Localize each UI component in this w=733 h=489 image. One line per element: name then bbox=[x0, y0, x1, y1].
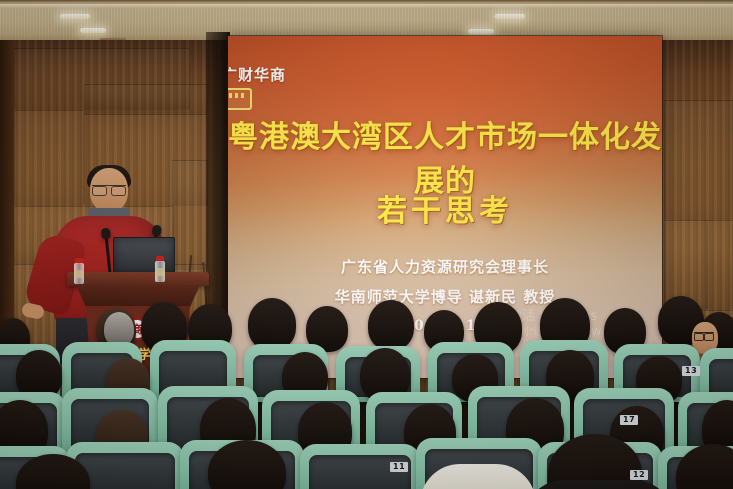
slide-title-line-2: 若干思考 bbox=[228, 186, 662, 230]
slide-brand-logo: 广财华商 bbox=[228, 64, 286, 85]
laptop-screen bbox=[113, 237, 175, 275]
audience-head bbox=[104, 312, 134, 346]
audience-seating: 13 17 11 12 bbox=[0, 314, 733, 489]
seat-number: 11 bbox=[390, 462, 408, 472]
seat-number: 17 bbox=[620, 415, 638, 425]
seat-number: 13 bbox=[682, 366, 700, 376]
slide-badge-icon bbox=[228, 88, 252, 110]
lecture-hall-photo: 广财华商 粤港澳大湾区人才市场一体化发展的 若干思考 广东省人力资源研究会理事长… bbox=[0, 0, 733, 489]
slide-subtitle-line-2: 华南师范大学博导 谌新民 教授 bbox=[228, 286, 662, 307]
water-bottle bbox=[155, 256, 165, 282]
podium-top bbox=[67, 272, 209, 286]
bottle-label bbox=[155, 268, 165, 276]
slide-subtitle-line-1: 广东省人力资源研究会理事长 bbox=[228, 256, 662, 277]
seat-number: 12 bbox=[630, 470, 648, 480]
audience-head bbox=[248, 298, 296, 350]
podium-slope bbox=[76, 285, 200, 307]
glasses-icon bbox=[92, 185, 126, 193]
water-bottle bbox=[74, 258, 84, 284]
audience-head bbox=[368, 300, 414, 350]
glasses-icon bbox=[694, 332, 714, 338]
microphone-head bbox=[101, 228, 111, 240]
bottle-label bbox=[74, 270, 84, 278]
laptop bbox=[113, 237, 175, 275]
